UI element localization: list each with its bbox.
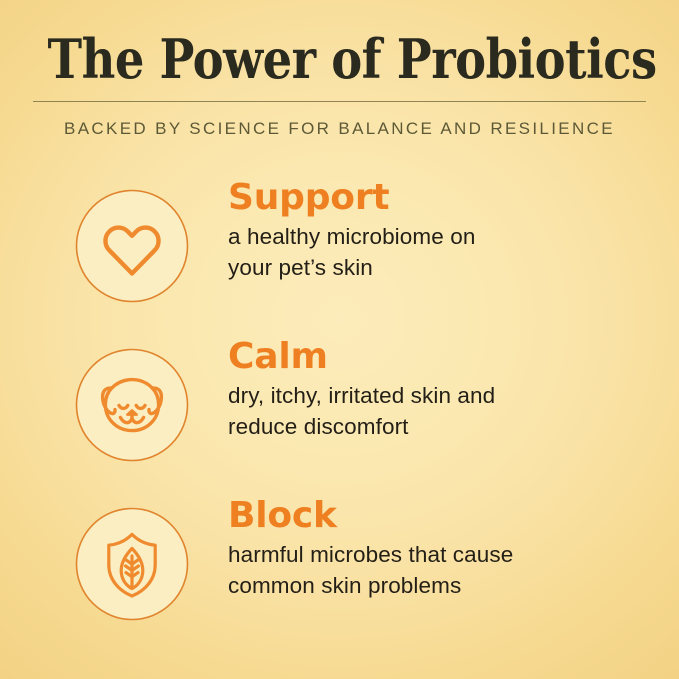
dog-face-icon (75, 348, 189, 462)
feature-row: Block harmful microbes that cause common… (0, 488, 679, 647)
feature-text: Support a healthy microbiome on your pet… (228, 176, 658, 283)
feature-row: Calm dry, itchy, irritated skin and redu… (0, 329, 679, 488)
feature-description-line: your pet’s skin (228, 252, 658, 283)
feature-description-line: dry, itchy, irritated skin and (228, 380, 658, 411)
feature-icon-calm (75, 348, 189, 462)
page-subtitle: BACKED BY SCIENCE FOR BALANCE AND RESILI… (0, 119, 679, 139)
page-title: The Power of Probiotics (48, 29, 632, 89)
feature-description: harmful microbes that cause common skin … (228, 539, 658, 601)
feature-description: dry, itchy, irritated skin and reduce di… (228, 380, 658, 442)
probiotics-infographic: The Power of Probiotics BACKED BY SCIENC… (0, 0, 679, 679)
feature-icon-support (75, 189, 189, 303)
feature-icon-block (75, 507, 189, 621)
feature-title: Block (228, 494, 658, 538)
feature-description-line: common skin problems (228, 570, 658, 601)
feature-description: a healthy microbiome on your pet’s skin (228, 221, 658, 283)
feature-text: Block harmful microbes that cause common… (228, 494, 658, 601)
header-divider (33, 101, 646, 102)
feature-row: Support a healthy microbiome on your pet… (0, 170, 679, 329)
feature-title: Calm (228, 335, 658, 379)
heart-icon (75, 189, 189, 303)
header: The Power of Probiotics BACKED BY SCIENC… (0, 0, 679, 139)
feature-description-line: a healthy microbiome on (228, 221, 658, 252)
feature-description-line: reduce discomfort (228, 411, 658, 442)
feature-text: Calm dry, itchy, irritated skin and redu… (228, 335, 658, 442)
feature-list: Support a healthy microbiome on your pet… (0, 170, 679, 647)
feature-description-line: harmful microbes that cause (228, 539, 658, 570)
shield-leaf-icon (75, 507, 189, 621)
feature-title: Support (228, 176, 658, 220)
